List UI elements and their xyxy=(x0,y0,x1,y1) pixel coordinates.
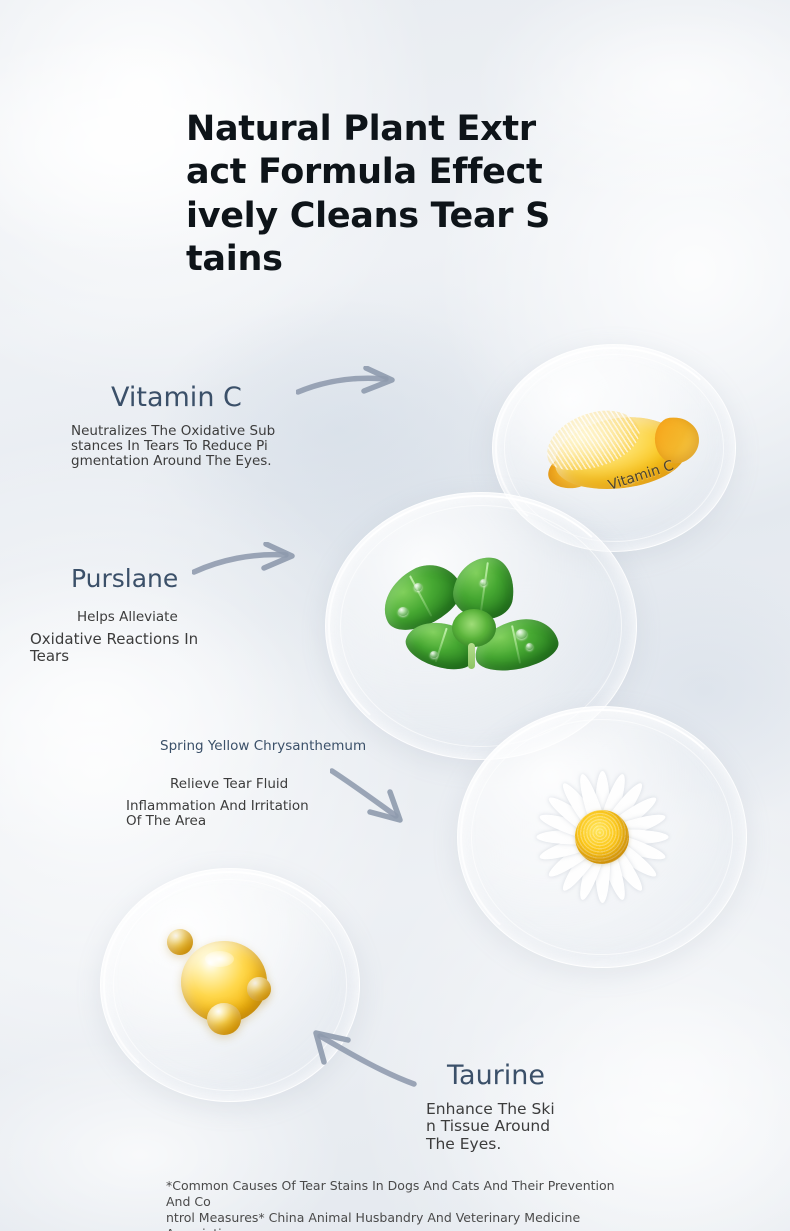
water-droplet xyxy=(526,643,533,650)
ingredient-block-purslane: Purslane Helps Alleviate Oxidative React… xyxy=(22,564,272,665)
dish-content-taurine xyxy=(101,869,359,1101)
water-droplet xyxy=(430,651,438,658)
flower-center-disc xyxy=(575,810,629,864)
page-title-line: ively Cleans Tear S xyxy=(186,195,606,238)
ingredient-title-vitamin-c: Vitamin C xyxy=(111,382,322,413)
ingredient-title-taurine: Taurine xyxy=(447,1060,700,1091)
water-droplet xyxy=(516,629,527,639)
product-infographic-poster: Natural Plant Extr act Formula Effect iv… xyxy=(0,0,790,1231)
petri-dish-chrysanthemum xyxy=(457,706,747,968)
ingredient-title-chrysanthemum: Spring Yellow Chrysanthemum xyxy=(160,738,410,754)
water-droplet xyxy=(398,607,408,616)
purslane-plant-image xyxy=(376,551,586,701)
ingredient-block-chrysanthemum: Spring Yellow Chrysanthemum Relieve Tear… xyxy=(120,738,410,829)
ingredient-description-purslane-line2: Oxidative Reactions In Tears xyxy=(30,631,272,665)
purslane-center-leaves xyxy=(452,609,496,647)
purslane-stem xyxy=(468,643,475,669)
chrysanthemum-flower-image xyxy=(522,757,682,917)
ingredient-description-chrysanthemum-line1: Relieve Tear Fluid xyxy=(170,776,410,792)
ingredient-description-purslane-line1: Helps Alleviate xyxy=(77,609,272,625)
taurine-golden-droplets-image xyxy=(155,915,305,1055)
vitamin-c-capsule-image: Vitamin C xyxy=(541,399,701,505)
golden-droplet-small xyxy=(247,977,271,1001)
dish-content-chrysanthemum xyxy=(458,707,746,967)
golden-droplet-small xyxy=(207,1003,241,1035)
water-droplet xyxy=(414,583,422,591)
petri-dish-taurine xyxy=(100,868,360,1102)
footnote-source-citation: *Common Causes Of Tear Stains In Dogs An… xyxy=(166,1178,636,1231)
ingredient-description-taurine: Enhance The Ski n Tissue Around The Eyes… xyxy=(426,1101,700,1153)
ingredient-description-chrysanthemum-line2: Inflammation And Irritation Of The Area xyxy=(126,799,410,829)
ingredient-block-taurine: Taurine Enhance The Ski n Tissue Around … xyxy=(420,1060,700,1153)
ingredient-block-vitamin-c: Vitamin C Neutralizes The Oxidative Sub … xyxy=(62,382,322,469)
water-droplet xyxy=(480,579,487,586)
ingredient-description-vitamin-c: Neutralizes The Oxidative Sub stances In… xyxy=(71,424,322,469)
page-title-line: Natural Plant Extr xyxy=(186,108,606,151)
ingredient-title-purslane: Purslane xyxy=(71,564,272,593)
page-title: Natural Plant Extr act Formula Effect iv… xyxy=(186,108,606,282)
page-title-line: tains xyxy=(186,238,606,281)
page-title-line: act Formula Effect xyxy=(186,151,606,194)
golden-droplet-small xyxy=(167,929,193,955)
